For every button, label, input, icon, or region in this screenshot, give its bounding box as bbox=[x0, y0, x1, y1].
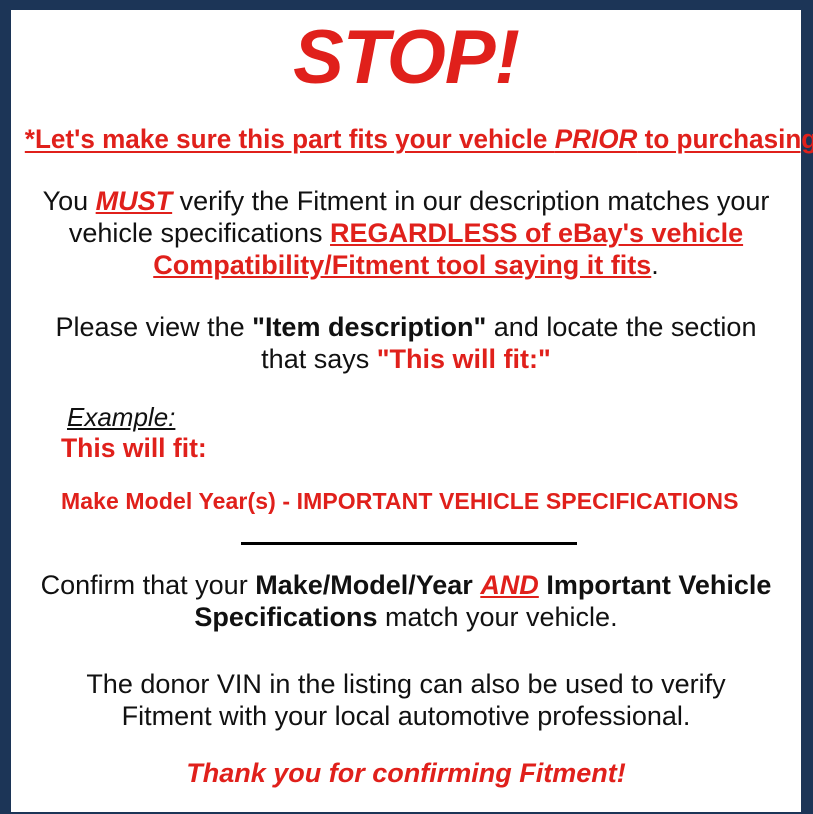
paragraph-must-verify: You MUST verify the Fitment in our descr… bbox=[19, 186, 793, 282]
and-emphasis: AND bbox=[480, 570, 539, 600]
page-title: STOP! bbox=[19, 20, 793, 96]
section-divider bbox=[241, 542, 577, 545]
paragraph-item-description: Please view the "Item description" and l… bbox=[19, 312, 793, 376]
notice-inner-content: STOP! *Let's make sure this part fits yo… bbox=[11, 20, 801, 812]
must-emphasis: MUST bbox=[96, 186, 173, 216]
item-description-emphasis: "Item description" bbox=[252, 312, 486, 342]
must-text-part3: . bbox=[651, 250, 659, 280]
example-fit-heading: This will fit: bbox=[61, 434, 793, 464]
subtitle-emphasis-prior: PRIOR bbox=[555, 124, 638, 154]
paragraph-donor-vin: The donor VIN in the listing can also be… bbox=[19, 669, 793, 733]
closing-thank-you: Thank you for confirming Fitment! bbox=[19, 758, 793, 789]
subtitle-banner: *Let's make sure this part fits your veh… bbox=[25, 125, 787, 155]
example-label-row: Example: bbox=[56, 403, 793, 433]
example-block: Example: This will fit: Make Model Year(… bbox=[19, 403, 793, 514]
divider-wrapper bbox=[19, 542, 793, 545]
fitment-notice-card: STOP! *Let's make sure this part fits yo… bbox=[0, 0, 813, 814]
paragraph-confirm: Confirm that your Make/Model/Year AND Im… bbox=[19, 570, 793, 634]
subtitle-prefix: *Let's make sure this part fits your veh… bbox=[25, 124, 555, 154]
make-model-year-emphasis: Make/Model/Year bbox=[255, 570, 473, 600]
example-label: Example: bbox=[67, 403, 175, 433]
subtitle-suffix: to purchasing* bbox=[637, 124, 813, 154]
confirm-text-part4: match your vehicle. bbox=[377, 602, 617, 632]
confirm-text-part1: Confirm that your bbox=[41, 570, 256, 600]
must-text-part1: You bbox=[43, 186, 96, 216]
this-will-fit-emphasis: "This will fit:" bbox=[377, 344, 551, 374]
itemdesc-text-part1: Please view the bbox=[56, 312, 253, 342]
example-spec-line: Make Model Year(s) - IMPORTANT VEHICLE S… bbox=[61, 489, 793, 514]
